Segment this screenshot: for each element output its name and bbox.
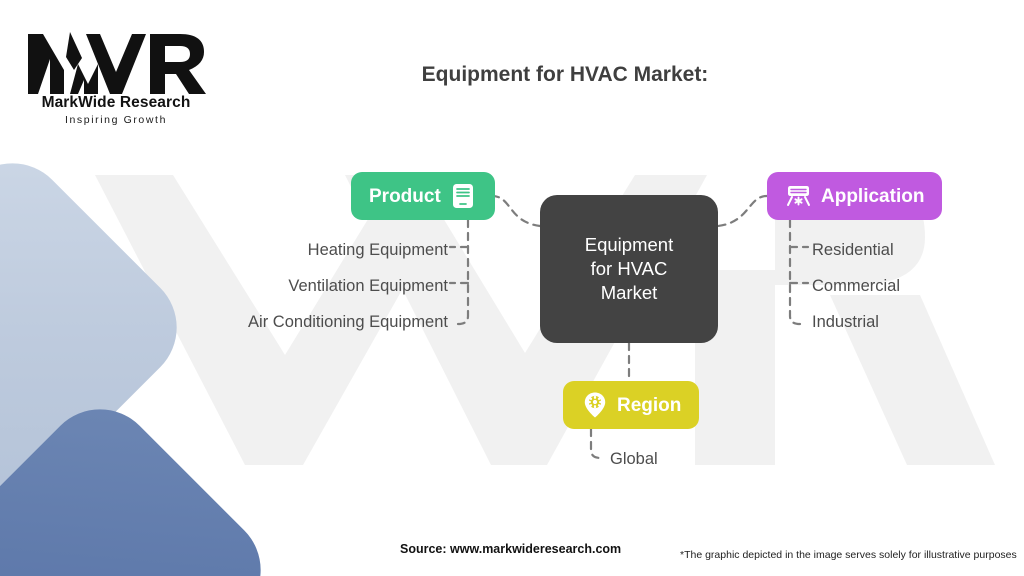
- list-item: Commercial: [812, 268, 1022, 304]
- list-item: Residential: [812, 232, 1022, 268]
- connector-product-spine: [458, 220, 468, 324]
- badge-product-label: Product: [369, 187, 441, 206]
- badge-product[interactable]: Product: [351, 172, 495, 220]
- connector-product-to-center: [492, 196, 540, 226]
- source-text: Source: www.markwideresearch.com: [400, 542, 621, 556]
- badge-application[interactable]: Application: [767, 172, 942, 220]
- list-item: Global: [610, 441, 790, 477]
- list-item: Ventilation Equipment: [180, 268, 448, 304]
- decorative-shape-dark: [0, 386, 284, 576]
- application-item-list: Residential Commercial Industrial: [812, 232, 1022, 340]
- product-item-list: Heating Equipment Ventilation Equipment …: [180, 232, 448, 340]
- brand-logo: MarkWide Research Inspiring Growth: [26, 30, 206, 125]
- badge-region-label: Region: [617, 396, 681, 415]
- logo-mark-mwr: [26, 30, 206, 96]
- map-pin-gear-icon: [581, 392, 608, 419]
- list-item: Air Conditioning Equipment: [180, 304, 448, 340]
- badge-application-label: Application: [821, 187, 924, 206]
- server-cabinet-icon: [450, 183, 477, 210]
- connector-application-to-center: [718, 196, 767, 226]
- list-item: Industrial: [812, 304, 1022, 340]
- decorative-shape-light: [0, 140, 200, 515]
- list-item: Heating Equipment: [180, 232, 448, 268]
- infographic-canvas: MarkWide Research Inspiring Growth Equip…: [0, 0, 1024, 576]
- logo-tagline: Inspiring Growth: [26, 114, 206, 126]
- page-title: Equipment for HVAC Market:: [410, 60, 720, 89]
- center-node: Equipment for HVAC Market: [540, 195, 718, 343]
- badge-region[interactable]: Region: [563, 381, 699, 429]
- disclaimer-text: *The graphic depicted in the image serve…: [680, 549, 1017, 561]
- connector-region-spine: [591, 429, 601, 458]
- logo-company-name: MarkWide Research: [26, 94, 206, 112]
- connector-application-spine: [790, 220, 800, 324]
- air-conditioner-icon: [785, 183, 812, 210]
- region-item-list: Global: [610, 441, 790, 477]
